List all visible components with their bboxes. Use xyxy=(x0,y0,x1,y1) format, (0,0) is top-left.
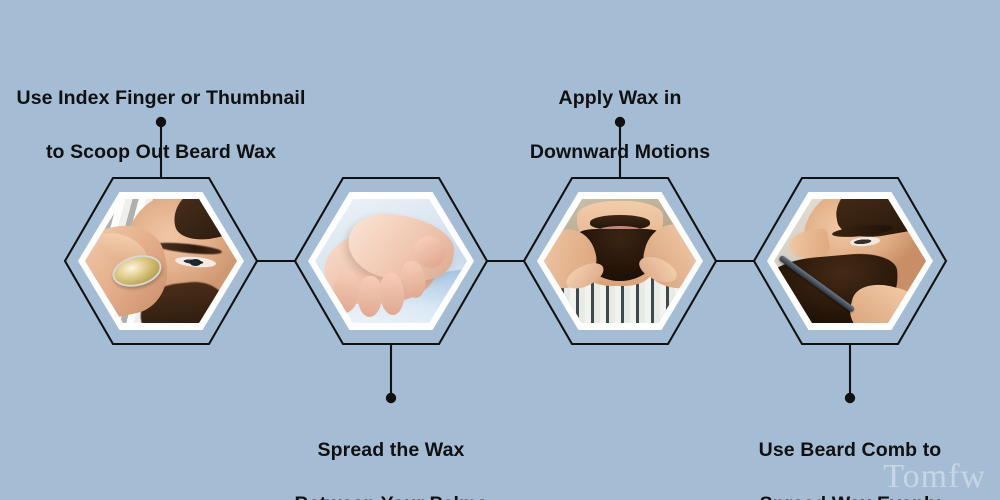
step-label-1: Use Index Finger or Thumbnail to Scoop O… xyxy=(0,58,371,193)
step-label-3-line-1: Apply Wax in xyxy=(410,85,830,112)
label-dot-2 xyxy=(386,393,396,403)
step-label-2: Spread the Wax Between Your Palms xyxy=(181,410,601,500)
step-label-1-line-2: to Scoop Out Beard Wax xyxy=(0,139,371,166)
label-dot-4 xyxy=(845,393,855,403)
step-label-3: Apply Wax in Downward Motions xyxy=(410,58,830,193)
infographic-canvas: Use Index Finger or Thumbnail to Scoop O… xyxy=(0,0,1000,500)
step-label-1-line-1: Use Index Finger or Thumbnail xyxy=(0,85,371,112)
watermark-tomfw: Tomfw xyxy=(883,460,986,494)
step-label-2-line-1: Spread the Wax xyxy=(181,437,601,464)
step-label-3-line-2: Downward Motions xyxy=(410,139,830,166)
step-label-2-line-2: Between Your Palms xyxy=(181,491,601,500)
